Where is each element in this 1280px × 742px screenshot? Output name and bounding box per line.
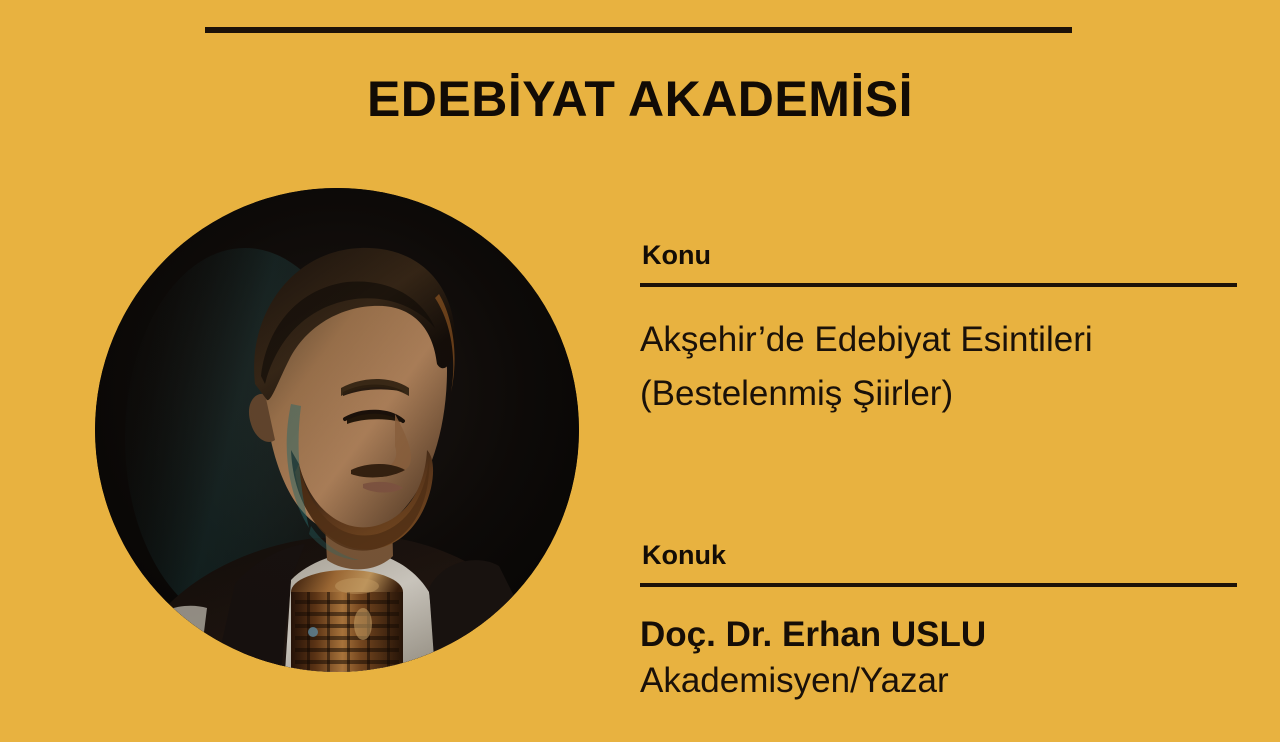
page-title: EDEBİYAT AKADEMİSİ: [0, 74, 1280, 124]
field-label-konu: Konu: [642, 240, 1240, 271]
field-konuk: Konuk Doç. Dr. Erhan USLU Akademisyen/Ya…: [640, 540, 1240, 704]
speaker-portrait-illustration: [95, 188, 579, 672]
field-rule-konuk: [640, 583, 1237, 587]
speaker-name: Doç. Dr. Erhan USLU: [640, 613, 1240, 657]
event-details: Konu Akşehir’de Edebiyat Esintileri (Bes…: [640, 240, 1240, 704]
field-rule-konu: [640, 283, 1237, 287]
konu-line-1: Akşehir’de Edebiyat Esintileri: [640, 313, 1240, 367]
poster-canvas: EDEBİYAT AKADEMİSİ: [0, 0, 1280, 742]
field-konu: Konu Akşehir’de Edebiyat Esintileri (Bes…: [640, 240, 1240, 420]
field-label-konuk: Konuk: [642, 540, 1240, 571]
speaker-role: Akademisyen/Yazar: [640, 657, 1240, 704]
speaker-photo: [95, 188, 579, 672]
field-value-konu: Akşehir’de Edebiyat Esintileri (Bestelen…: [640, 313, 1240, 420]
konu-line-2: (Bestelenmiş Şiirler): [640, 367, 1240, 421]
header-divider-rule: [205, 27, 1072, 33]
